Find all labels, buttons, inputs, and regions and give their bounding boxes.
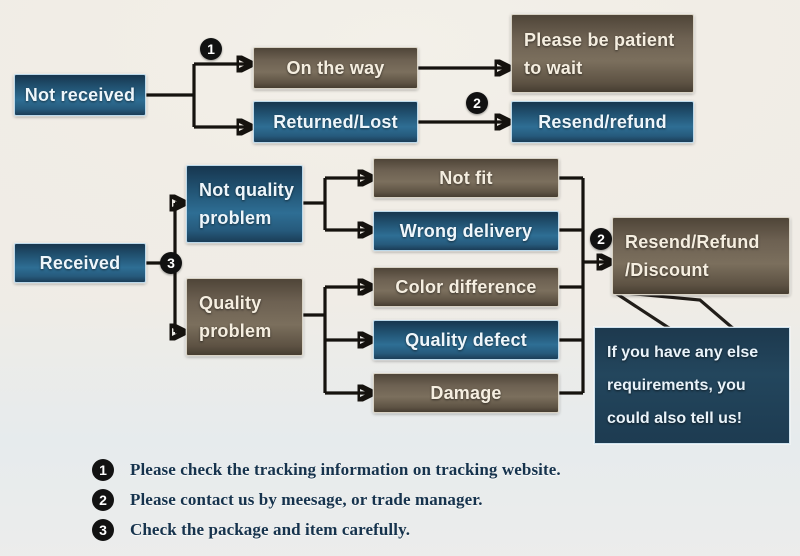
node-label-line2: to wait [524,59,693,77]
node-color-difference[interactable]: Color difference [373,267,559,307]
node-wrong-delivery[interactable]: Wrong delivery [373,211,559,251]
node-label: Not fit [439,169,492,187]
node-label: Quality defect [405,331,527,349]
node-label: Returned/Lost [273,113,398,131]
node-label: Received [40,254,121,272]
node-label: Not received [25,86,135,104]
marker-3-received: 3 [160,252,182,274]
marker-2-resend-refund-discount: 2 [590,228,612,250]
node-quality-problem[interactable]: Quality problem [186,278,303,356]
node-label-line1: Please be patient [524,31,693,49]
node-label-line1: Not quality [199,181,302,199]
marker-1-on-the-way: 1 [200,38,222,60]
node-please-be-patient[interactable]: Please be patient to wait [511,14,694,93]
node-resend-refund[interactable]: Resend/refund [511,101,694,143]
node-resend-refund-discount[interactable]: Resend/Refund /Discount [612,217,790,295]
marker-2-returned-lost: 2 [466,92,488,114]
marker-number: 2 [473,96,481,110]
legend-item: 1 Please check the tracking information … [92,455,732,485]
node-damage[interactable]: Damage [373,373,559,413]
node-not-received[interactable]: Not received [14,74,146,116]
legend-text-2: Please contact us by meesage, or trade m… [130,490,483,510]
node-returned-lost[interactable]: Returned/Lost [253,101,418,143]
node-label-line1: Resend/Refund [625,233,789,251]
legend-item: 3 Check the package and item carefully. [92,515,732,545]
marker-number: 3 [167,256,175,270]
callout-extra-requirements: If you have any else requirements, you c… [594,327,790,444]
node-label: Color difference [395,278,536,296]
legend-marker-1: 1 [92,459,114,481]
node-label-line1: Quality [199,294,302,312]
node-label: Resend/refund [538,113,667,131]
marker-number: 1 [207,42,215,56]
node-label-line2: problem [199,209,302,227]
legend-marker-number: 2 [99,493,107,507]
node-not-quality-problem[interactable]: Not quality problem [186,165,303,243]
legend-item: 2 Please contact us by meesage, or trade… [92,485,732,515]
legend-list: 1 Please check the tracking information … [92,455,732,545]
marker-number: 2 [597,232,605,246]
callout-line1: If you have any else [607,345,779,361]
flowchart-canvas: Not received On the way Returned/Lost Pl… [0,0,800,556]
node-label: On the way [286,59,384,77]
node-label: Wrong delivery [400,222,533,240]
node-received[interactable]: Received [14,243,146,283]
node-label-line2: problem [199,322,302,340]
legend-text-3: Check the package and item carefully. [130,520,410,540]
callout-line2: requirements, you [607,378,779,394]
legend-marker-number: 3 [99,523,107,537]
legend-marker-3: 3 [92,519,114,541]
legend-marker-number: 1 [99,463,107,477]
node-label: Damage [430,384,501,402]
legend-text-1: Please check the tracking information on… [130,460,561,480]
callout-line3: could also tell us! [607,411,779,427]
node-not-fit[interactable]: Not fit [373,158,559,198]
legend-marker-2: 2 [92,489,114,511]
node-label-line2: /Discount [625,261,789,279]
node-quality-defect[interactable]: Quality defect [373,320,559,360]
node-on-the-way[interactable]: On the way [253,47,418,89]
